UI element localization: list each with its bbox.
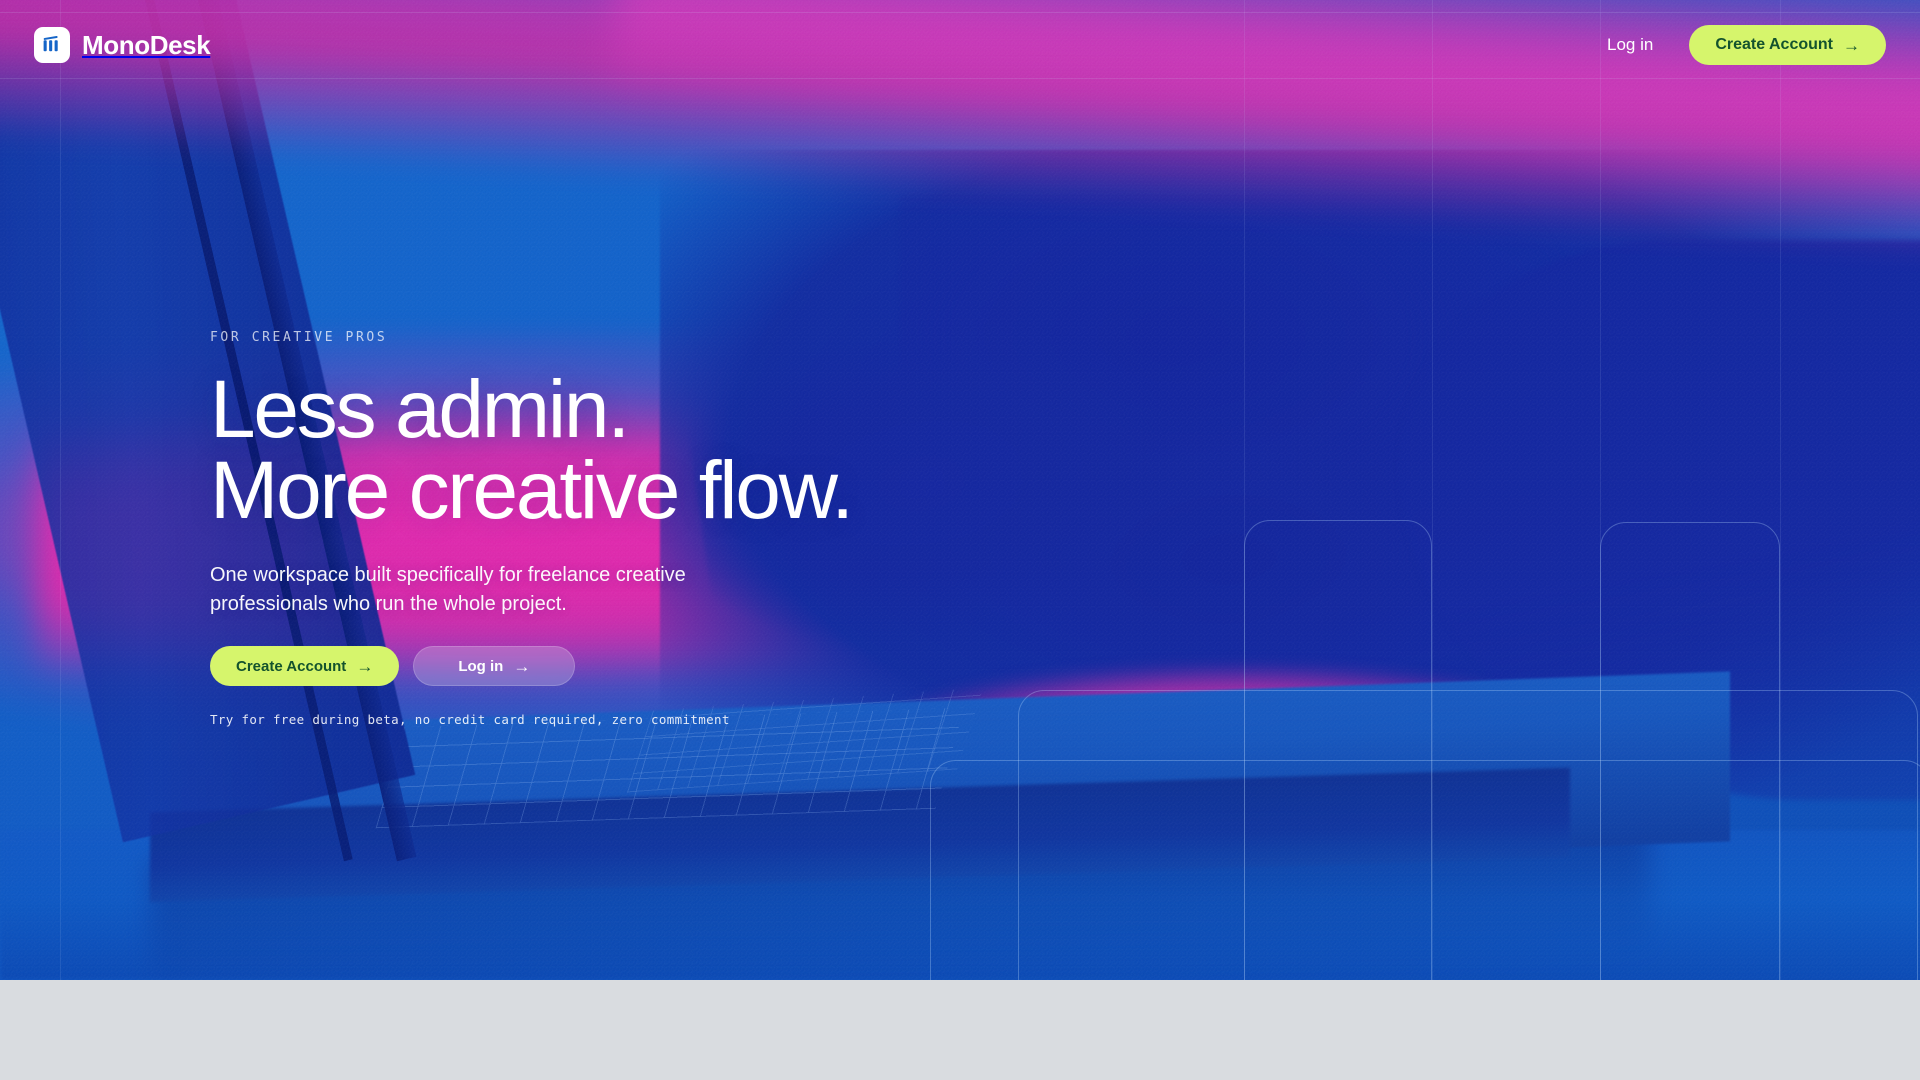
arrow-right-icon: → xyxy=(513,658,530,675)
arrow-right-icon: → xyxy=(1843,37,1860,54)
hero-eyebrow: FOR CREATIVE PROS xyxy=(210,330,1190,345)
header-nav: Log in Create Account → xyxy=(1607,25,1886,65)
hero-headline: Less admin. More creative flow. xyxy=(210,369,1190,531)
brand-logo-link[interactable]: MonoDesk xyxy=(34,27,210,63)
hero-content: FOR CREATIVE PROS Less admin. More creat… xyxy=(210,330,1190,727)
hero-subheading: One workspace built specifically for fre… xyxy=(210,561,710,618)
header-login-link[interactable]: Log in xyxy=(1607,35,1653,55)
hero-headline-line-2: More creative flow. xyxy=(210,450,1190,531)
next-section-placeholder xyxy=(0,980,1920,1080)
hero-headline-line-1: Less admin. xyxy=(210,364,628,455)
hero-login-button[interactable]: Log in → xyxy=(413,646,575,686)
header-create-account-label: Create Account xyxy=(1715,36,1833,54)
header-create-account-button[interactable]: Create Account → xyxy=(1689,25,1886,65)
monodesk-logo-icon xyxy=(34,27,70,63)
hero-create-account-button[interactable]: Create Account → xyxy=(210,646,399,686)
arrow-right-icon: → xyxy=(356,658,373,675)
hero-login-label: Log in xyxy=(458,658,503,675)
site-header: MonoDesk Log in Create Account → xyxy=(0,0,1920,90)
hero-section: MonoDesk Log in Create Account → FOR CRE… xyxy=(0,0,1920,980)
brand-name-text: MonoDesk xyxy=(82,30,210,61)
hero-cta-row: Create Account → Log in → xyxy=(210,646,1190,686)
hero-create-account-label: Create Account xyxy=(236,658,346,675)
hero-fineprint: Try for free during beta, no credit card… xyxy=(210,712,1190,727)
